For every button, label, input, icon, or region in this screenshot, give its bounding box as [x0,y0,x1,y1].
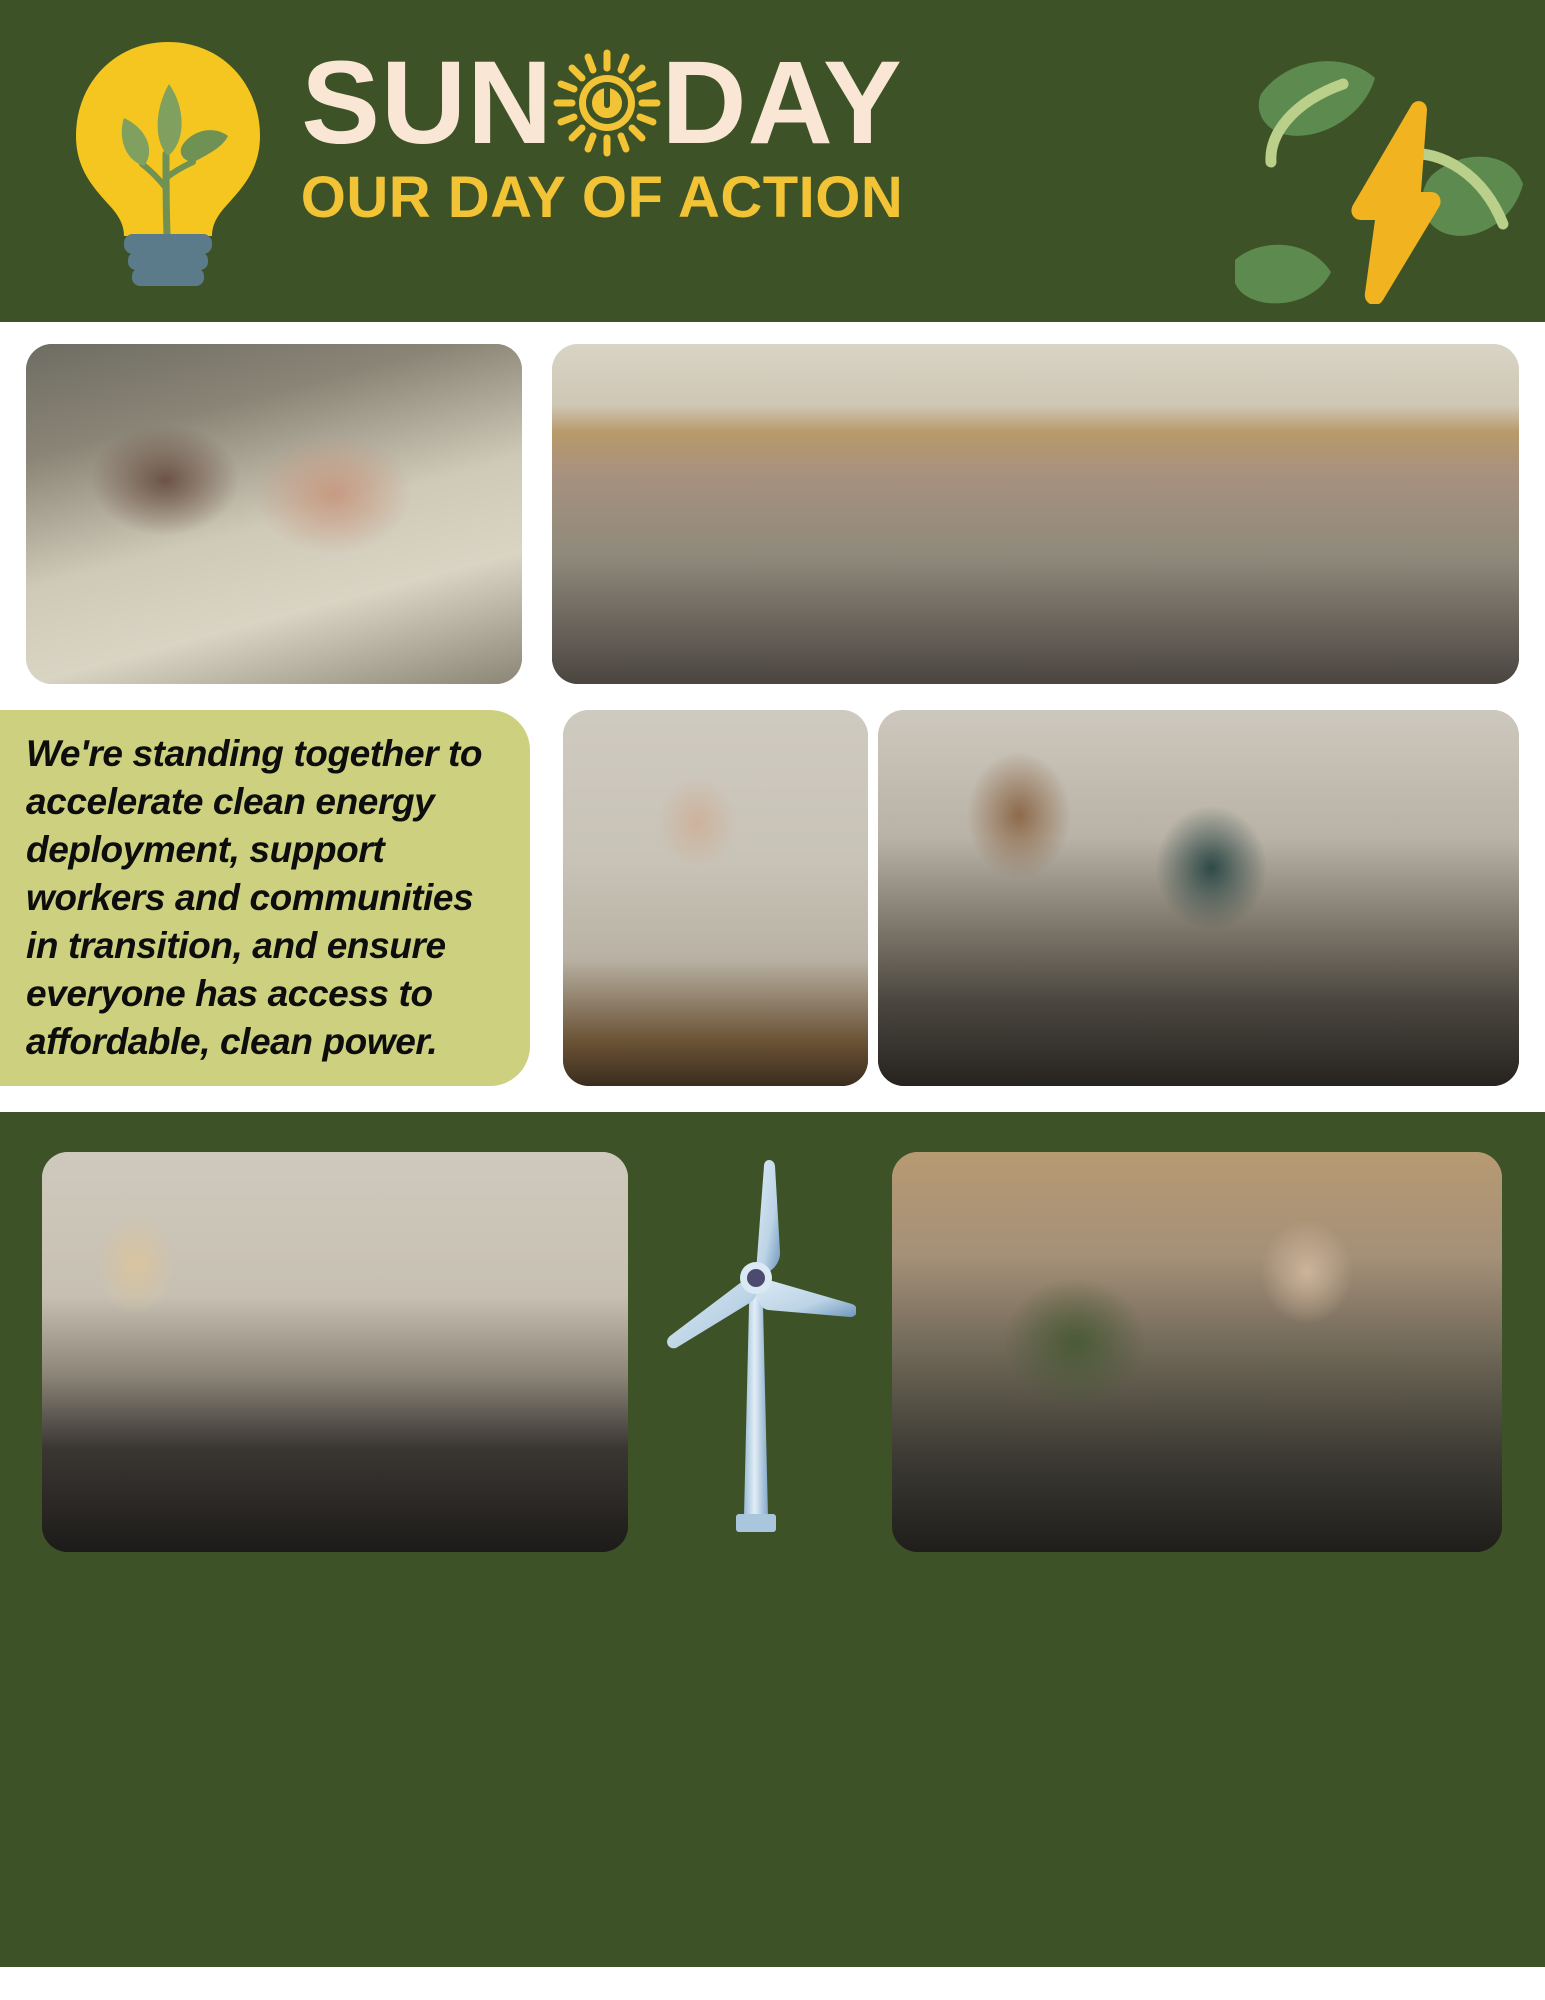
placard-line-3: CLIMATE JUSTICE [739,887,849,896]
main-title: SUN [272,44,932,162]
placard-line-4: greenfaith [198,1327,308,1333]
photo-woman-speaking-nun-seated: SUN DAY PEOPLE OF FAITH shining a light … [42,1152,628,1552]
title-word-sun: SUN [301,44,553,162]
photo-event-hall-attendees [552,344,1519,684]
photo-grid-green-section: SUN DAY PEOPLE OF FAITH shining a light … [0,1112,1545,1967]
photo-two-women-interfaith-shirts: INTERFAITH [26,344,522,684]
placard-line-4: greenfaith [739,899,849,905]
placard-title-right: DAY [805,849,833,864]
placard-line-1: PEOPLE OF FAITH [198,1297,308,1306]
placard-line-2: shining a light for [739,878,849,887]
placard-title-left: SUN [756,849,785,864]
sun-day-placard: SUN DAY PEOPLE OF FAITH shining a light … [735,842,853,910]
placard-line-3: CLIMATE JUSTICE [198,1315,308,1324]
wind-turbine-icon [656,1154,856,1554]
leaves-lightning-bolt-icon [1235,24,1525,304]
photo-people-embracing [892,1152,1502,1552]
placard-title-right: DAY [264,1277,292,1292]
lightbulb-plant-icon [62,38,274,288]
placard-line-2: shining a light for [198,1306,308,1315]
placard-sunburst-icon [247,1276,261,1293]
placard-sunburst-icon [788,848,802,865]
sun-power-icon [553,49,661,157]
shirt-logo-text: INTERFAITH [186,559,277,576]
mission-quote-text: We're standing together to accelerate cl… [0,730,530,1067]
photo-musicians-performing [878,710,1519,1086]
photo-speaker-with-microphone: SUN DAY PEOPLE OF FAITH shining a light … [563,710,868,1086]
sun-day-placard: SUN DAY PEOPLE OF FAITH shining a light … [194,1270,312,1338]
title-word-day: DAY [661,44,902,162]
mission-quote-card: We're standing together to accelerate cl… [0,710,530,1086]
header-subtitle: OUR DAY OF ACTION [272,168,932,229]
title-block: SUN [272,44,932,229]
header-banner: SUN [0,0,1545,322]
photo-grid-white-section: INTERFAITH We're standing together to ac… [0,322,1545,1112]
placard-line-1: PEOPLE OF FAITH [739,869,849,878]
placard-title-left: SUN [215,1277,244,1292]
